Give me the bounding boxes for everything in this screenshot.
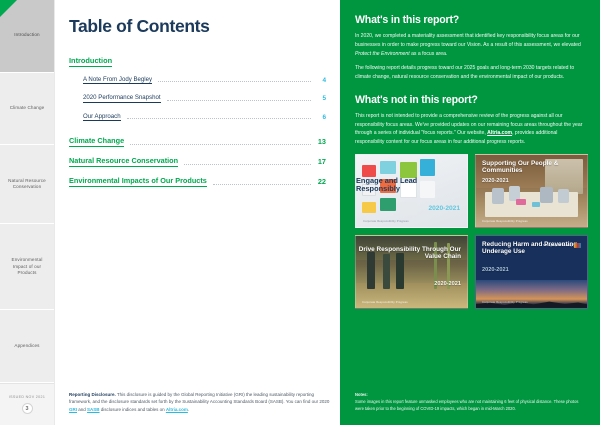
- sidebar-item-label: Introduction: [14, 32, 39, 39]
- brand-chip: Moving Beyond Smoking: [543, 243, 581, 248]
- leader-dots: [130, 144, 311, 145]
- corner-flag-icon: [0, 0, 17, 17]
- reporting-disclosure: Reporting Disclosure. This disclosure is…: [69, 391, 330, 413]
- toc-entry-label: Natural Resource Conservation: [69, 156, 178, 167]
- toc-entry-our-approach[interactable]: Our Approach 6: [69, 113, 326, 122]
- whats-not-in-report-paragraph: This report is not intended to provide a…: [355, 112, 585, 147]
- panel-notes: Notes: Some images in this report featur…: [355, 392, 588, 413]
- toc-entry-label: A Note From Jody Begley: [83, 76, 152, 85]
- toc-entry-page: 6: [317, 114, 326, 122]
- toc-entry-label: Our Approach: [83, 113, 121, 122]
- disclosure-lead: Reporting Disclosure.: [69, 392, 116, 397]
- page-number-badge: 3: [22, 403, 33, 414]
- leader-dots: [127, 118, 311, 119]
- paragraph-text: In 2020, we completed a materiality asse…: [355, 33, 581, 48]
- card-footer: Corporate Responsibility Progress: [363, 220, 409, 223]
- report-card-drive-responsibility-through-value-chain[interactable]: Drive Responsibility Through Our Value C…: [355, 235, 468, 309]
- disclosure-mid: and: [77, 407, 87, 412]
- toc-entry-environmental-impacts[interactable]: Environmental Impacts of Our Products 22: [69, 176, 326, 187]
- leader-dots: [213, 184, 311, 185]
- sidebar-item-label: Natural Resource Conservation: [4, 178, 50, 191]
- notes-body: Some images in this report feature unmas…: [355, 399, 578, 411]
- toc-entry-performance-snapshot[interactable]: 2020 Performance Snapshot 5: [69, 94, 326, 103]
- card-years: 2020-2021: [482, 267, 509, 273]
- report-card-supporting-our-people-and-communities[interactable]: Supporting Our People & Communities 2020…: [475, 154, 588, 228]
- card-years: 2020-2021: [434, 281, 461, 287]
- toc-entry-page: 22: [317, 177, 326, 187]
- gri-link[interactable]: GRI: [69, 407, 77, 412]
- card-title: Drive Responsibility Through Our Value C…: [356, 246, 461, 261]
- sasb-link[interactable]: SASB: [87, 407, 100, 412]
- card-footer: Corporate Responsibility Progress: [482, 301, 528, 304]
- disclosure-body-2: disclosure indices and tables on: [100, 407, 166, 412]
- sidebar-item-label: Climate Change: [10, 105, 45, 112]
- issued-date: ISSUED NOV 2021: [9, 395, 45, 399]
- card-years: 2020-2021: [482, 178, 509, 184]
- report-scope-panel: What's in this report? In 2020, we compl…: [340, 0, 600, 425]
- table-of-contents: Table of Contents Introduction A Note Fr…: [55, 0, 340, 425]
- whats-not-in-report-heading: What's not in this report?: [355, 94, 585, 106]
- related-reports-grid: Engage and Lead Responsibly 2020-2021 Co…: [355, 154, 585, 309]
- chapter-sidebar: Introduction Climate Change Natural Reso…: [0, 0, 55, 425]
- toc-entry-page: 5: [317, 95, 326, 103]
- whats-in-report-paragraph-2: The following report details progress to…: [355, 64, 585, 82]
- report-card-engage-and-lead-responsibly[interactable]: Engage and Lead Responsibly 2020-2021 Co…: [355, 154, 468, 228]
- report-page: Introduction Climate Change Natural Reso…: [0, 0, 600, 425]
- whats-in-report-paragraph-1: In 2020, we completed a materiality asse…: [355, 32, 585, 58]
- paragraph-text-end: as a focus area.: [410, 51, 448, 57]
- altria-com-link[interactable]: Altria.com: [166, 407, 188, 412]
- sidebar-footer: ISSUED NOV 2021 3: [0, 383, 54, 425]
- leader-dots: [184, 164, 311, 165]
- toc-entry-page: 17: [317, 157, 326, 167]
- card-title: Supporting Our People & Communities: [482, 160, 587, 175]
- sidebar-item-appendices[interactable]: Appendices: [0, 310, 54, 383]
- sidebar-item-natural-resource-conservation[interactable]: Natural Resource Conservation: [0, 145, 54, 224]
- sidebar-item-climate-change[interactable]: Climate Change: [0, 73, 54, 146]
- toc-entry-climate-change[interactable]: Climate Change 13: [69, 136, 326, 147]
- logo-icon: [574, 243, 581, 248]
- card-footer: Corporate Responsibility Progress: [362, 301, 408, 304]
- leader-dots: [167, 100, 311, 101]
- whats-in-report-heading: What's in this report?: [355, 14, 585, 26]
- leader-dots: [158, 81, 311, 82]
- sidebar-item-label: Appendices: [14, 343, 39, 350]
- card-years: 2020-2021: [428, 205, 460, 213]
- toc-entry-label: Environmental Impacts of Our Products: [69, 176, 207, 187]
- toc-entry-note-from-jody-begley[interactable]: A Note From Jody Begley 4: [69, 76, 326, 85]
- card-footer: Corporate Responsibility Progress: [482, 220, 528, 223]
- toc-entry-label: Climate Change: [69, 136, 124, 147]
- report-card-reducing-harm-preventing-underage-use[interactable]: Moving Beyond Smoking Reducing Harm and …: [475, 235, 588, 309]
- toc-entry-page: 13: [317, 137, 326, 147]
- toc-section-heading-introduction: Introduction: [69, 56, 112, 67]
- sidebar-item-label: Environmental Impact of our Products: [4, 257, 50, 277]
- notes-label: Notes:: [355, 392, 588, 399]
- toc-entry-natural-resource-conservation[interactable]: Natural Resource Conservation 17: [69, 156, 326, 167]
- sidebar-item-environmental-impact[interactable]: Environmental Impact of our Products: [0, 224, 54, 310]
- page-title: Table of Contents: [69, 16, 326, 37]
- disclosure-end: .: [188, 407, 189, 412]
- altria-com-link[interactable]: Altria.com: [487, 130, 512, 136]
- toc-entry-label: 2020 Performance Snapshot: [83, 94, 161, 103]
- brand-label: Moving Beyond Smoking: [543, 244, 572, 247]
- emphasis-protect-the-environment: Protect the Environment: [355, 51, 410, 57]
- card-title: Engage and Lead Responsibly: [356, 177, 460, 194]
- toc-entry-page: 4: [317, 77, 326, 85]
